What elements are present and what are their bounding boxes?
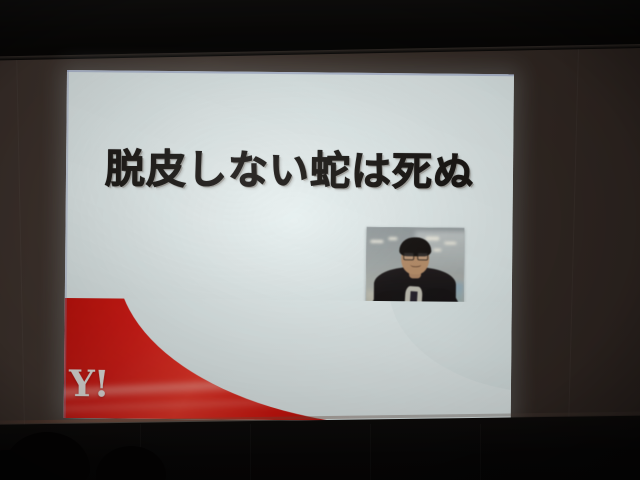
slide-title: 脱皮しない蛇は死ぬ [66,136,514,198]
floor-panel-seam [250,424,251,480]
presentation-photo: 脱皮しない蛇は死ぬ [0,0,640,480]
yahoo-logo: Y! [69,366,109,402]
slide-surface: 脱皮しない蛇は死ぬ [64,70,514,422]
projection-screen: 脱皮しない蛇は死ぬ [64,70,514,422]
floor-panel-seam [370,424,371,480]
yahoo-swoosh-footer [64,298,514,422]
floor-panel-seam [480,424,481,480]
